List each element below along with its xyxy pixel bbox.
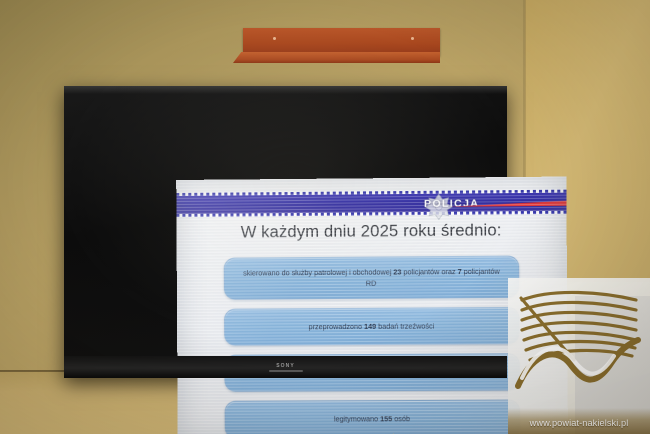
shelf-screw-right xyxy=(411,37,414,40)
shelf-screw-left xyxy=(273,37,276,40)
photo-scene: POLICJA W każdym dniu 2025 roku średnio:… xyxy=(0,0,650,434)
television: POLICJA W każdym dniu 2025 roku średnio:… xyxy=(64,86,507,378)
fact-text: przeprowadzono 149 badań trzeźwości xyxy=(309,320,435,332)
fact-box-patrols: skierowano do służby patrolowej i obchod… xyxy=(224,256,520,300)
tv-bezel-highlight xyxy=(64,86,507,94)
shelf-front-lip xyxy=(233,52,440,63)
watermark-logo: www.powiat-nakielski.pl xyxy=(508,278,650,434)
tv-brand-logo: SONY xyxy=(64,363,507,369)
slide-header-band: POLICJA xyxy=(176,190,566,217)
fact-text: legitymowano 155 osób xyxy=(334,414,410,425)
fact-text: skierowano do służby patrolowej i obchod… xyxy=(241,266,502,290)
fact-box-sobriety-tests: przeprowadzono 149 badań trzeźwości xyxy=(224,307,520,346)
fact-box-id-checks: legitymowano 155 osób xyxy=(225,400,521,434)
shelf-back-panel xyxy=(243,28,440,56)
wooden-shelf xyxy=(233,28,440,63)
tv-status-led xyxy=(269,370,303,372)
fact-box-list: skierowano do służby patrolowej i obchod… xyxy=(224,256,520,434)
tv-bottom-bezel: SONY xyxy=(64,356,507,378)
watermark-url: www.powiat-nakielski.pl xyxy=(508,418,650,428)
slide-title: W każdym dniu 2025 roku średnio: xyxy=(176,221,566,243)
